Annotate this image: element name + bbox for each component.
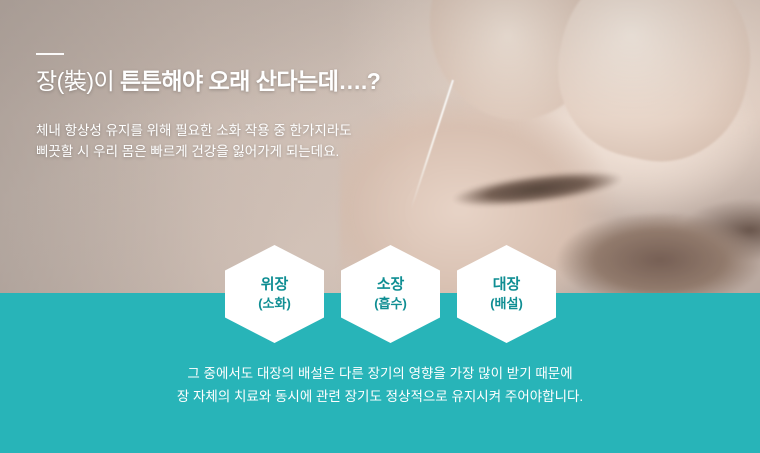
hexagon-large-intestine-title: 대장 (493, 275, 521, 294)
hexagon-stomach-subtitle: (소화) (258, 294, 291, 313)
hexagon-stomach-title: 위장 (261, 275, 289, 294)
promo-banner: 장(裝)이 튼튼해야 오래 산다는데….? 체내 항상성 유지를 위해 필요한 … (0, 0, 760, 453)
headline-bold-part: 튼튼해야 오래 산다는데….? (120, 68, 380, 94)
bottom-copy-line-1: 그 중에서도 대장의 배설은 다른 장기의 영향을 가장 많이 받기 때문에 (0, 362, 760, 385)
hexagon-small-intestine: 소장 (흡수) (341, 245, 440, 343)
page-title: 장(裝)이 튼튼해야 오래 산다는데….? (36, 62, 380, 96)
bottom-copy: 그 중에서도 대장의 배설은 다른 장기의 영향을 가장 많이 받기 때문에 장… (0, 362, 760, 408)
bottom-copy-line-2: 장 자체의 치료와 동시에 관련 장기도 정상적으로 유지시켜 주어야합니다. (0, 385, 760, 408)
sub-copy: 체내 항상성 유지를 위해 필요한 소화 작용 중 한가지라도 삐끗할 시 우리… (36, 120, 352, 162)
sub-copy-line-1: 체내 항상성 유지를 위해 필요한 소화 작용 중 한가지라도 (36, 120, 352, 141)
hexagon-stomach: 위장 (소화) (225, 245, 324, 343)
hexagon-large-intestine-subtitle: (배설) (490, 294, 523, 313)
hexagon-small-intestine-subtitle: (흡수) (374, 294, 407, 313)
headline-rule (36, 53, 64, 55)
sub-copy-line-2: 삐끗할 시 우리 몸은 빠르게 건강을 잃어가게 되는데요. (36, 141, 352, 162)
hexagon-small-intestine-title: 소장 (377, 275, 405, 294)
hexagon-large-intestine: 대장 (배설) (457, 245, 556, 343)
organ-hexagon-group: 위장 (소화) 소장 (흡수) 대장 (배설) (225, 245, 555, 343)
headline-light-part: 장(裝)이 (36, 68, 120, 94)
